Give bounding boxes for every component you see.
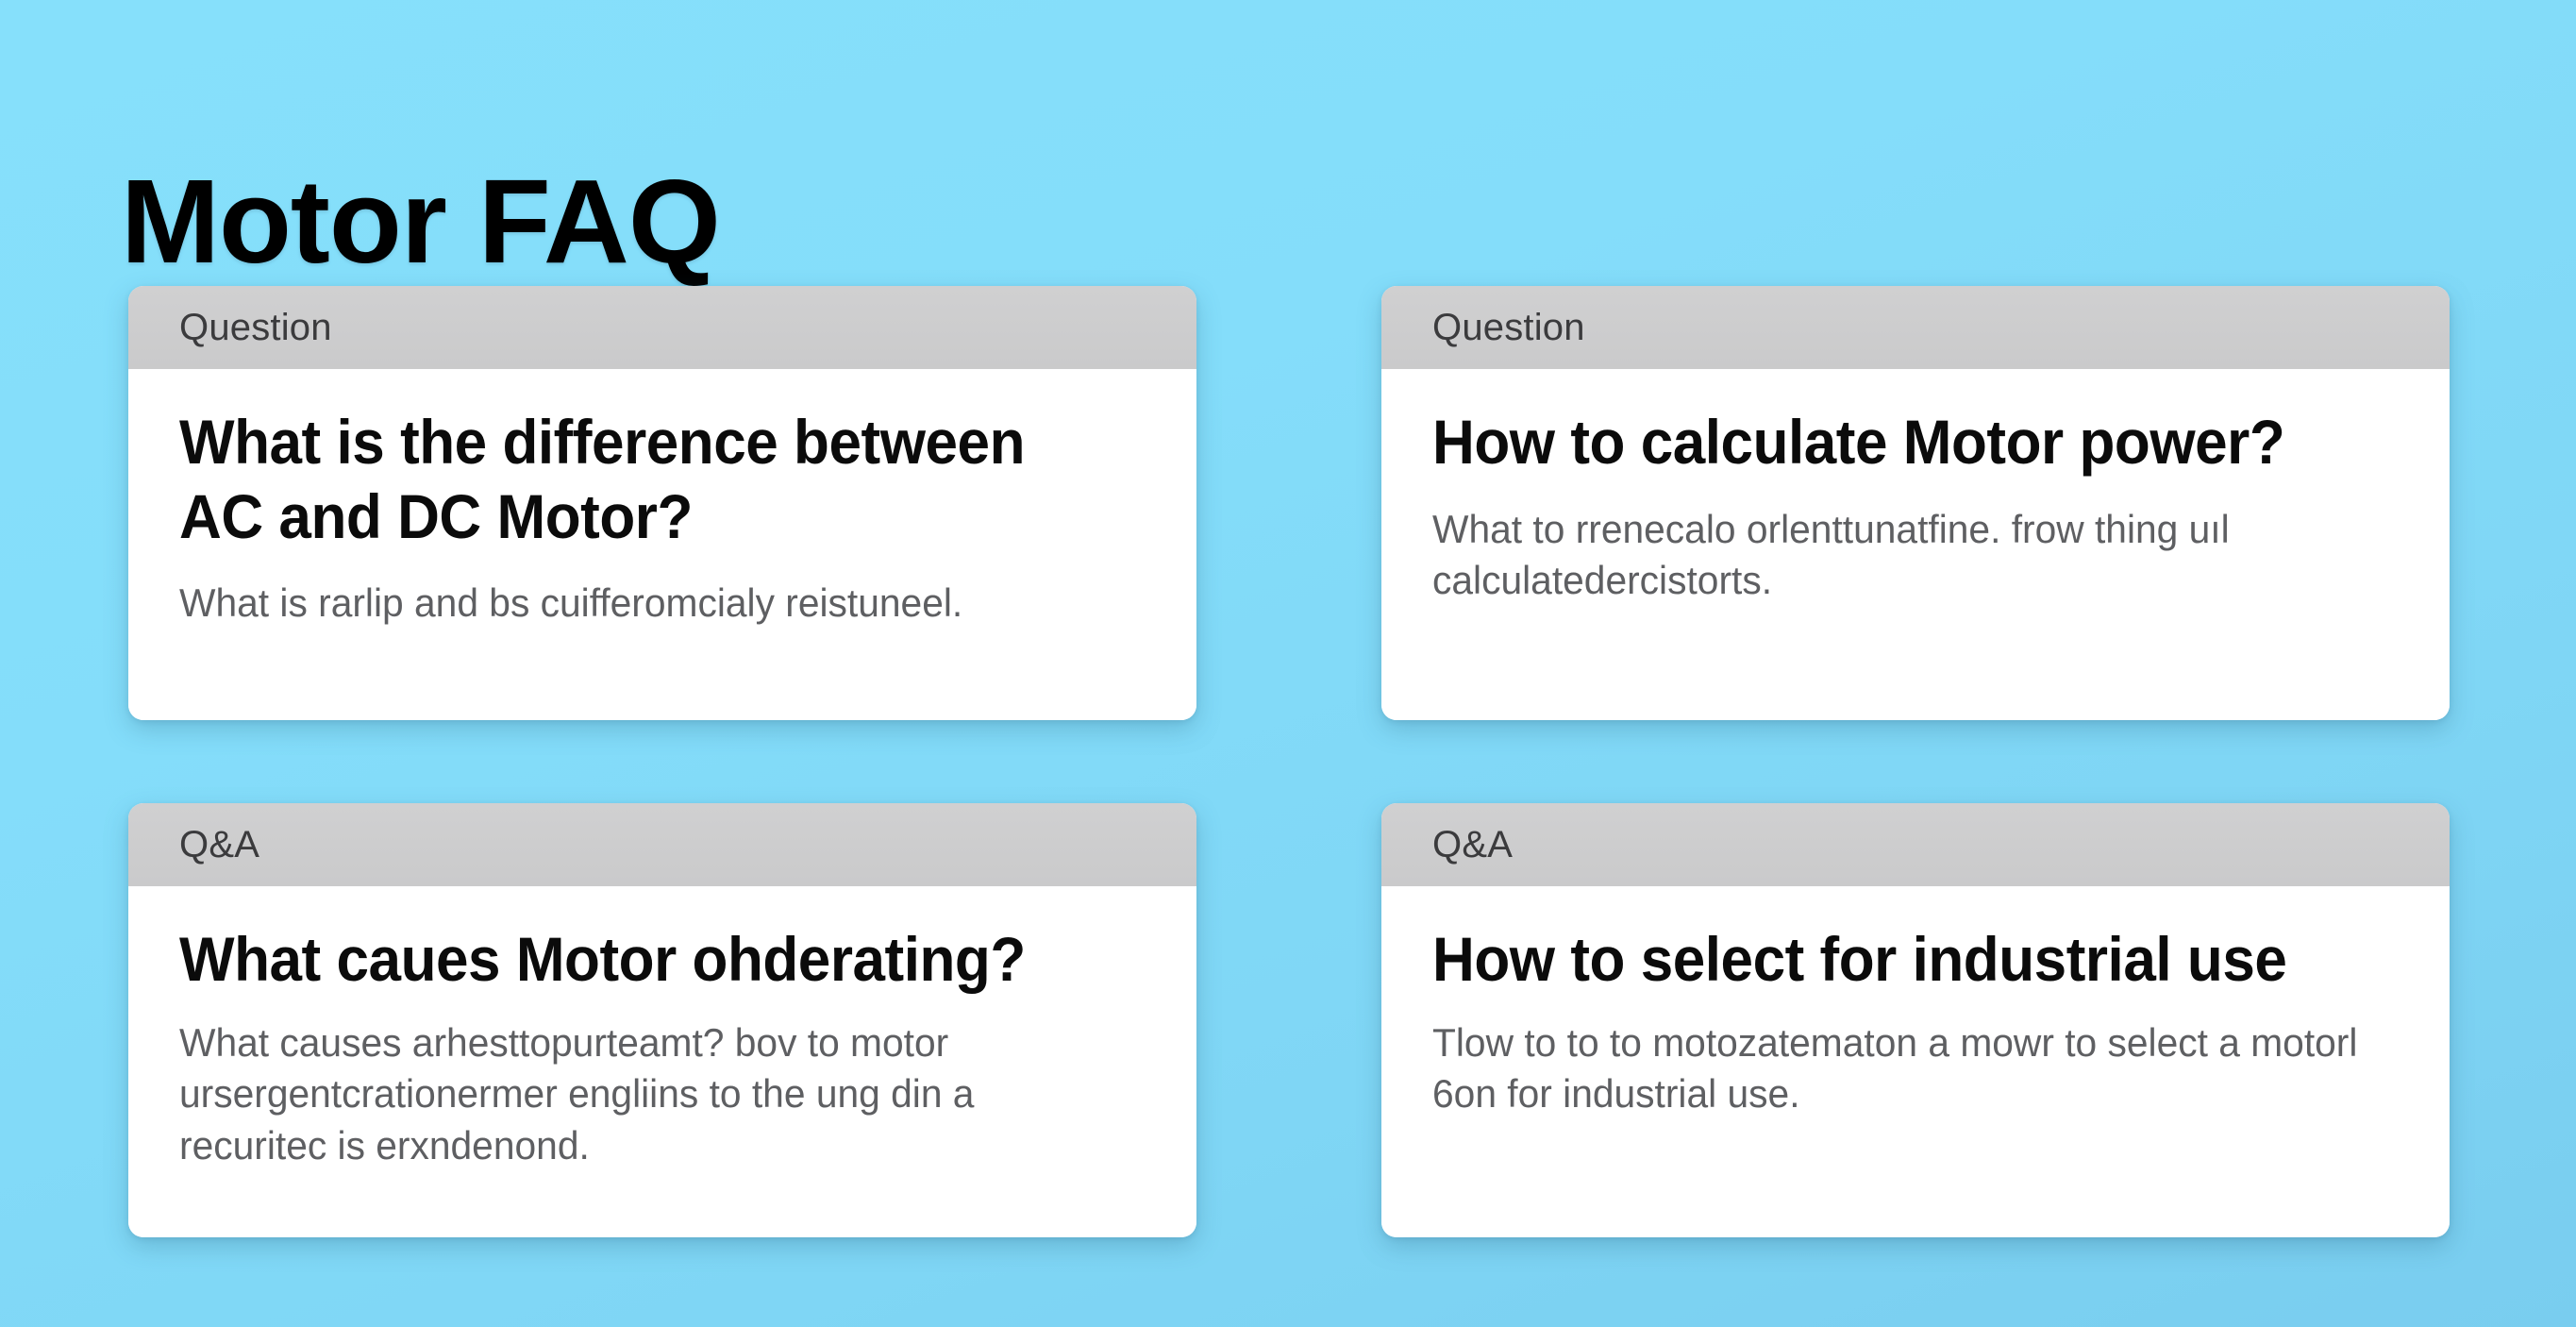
card-description: What causes arhesttopurteamt? bov to mot… <box>179 1017 1114 1172</box>
page-title: Motor FAQ <box>121 162 720 281</box>
card-heading: How to select for industrial use <box>1432 922 2339 997</box>
faq-card[interactable]: Q&A What caues Motor ohderating? What ca… <box>128 803 1196 1237</box>
card-header-label: Question <box>1432 307 1585 349</box>
card-body: How to select for industrial use Tlow to… <box>1381 886 2450 1237</box>
card-heading: What is the difference between AC and DC… <box>179 405 1086 553</box>
faq-card[interactable]: Question How to calculate Motor power? W… <box>1381 286 2450 720</box>
card-header: Q&A <box>1381 803 2450 886</box>
faq-card-grid: Question What is the difference between … <box>128 286 2450 1237</box>
card-body: What is the difference between AC and DC… <box>128 369 1196 720</box>
card-description: What to rrenecalo orlenttunatfine. frow … <box>1432 504 2367 607</box>
card-header: Question <box>128 286 1196 369</box>
card-description: What is rarlip and bs cuifferomcialy rei… <box>179 578 1114 630</box>
card-description: Tlow to to to motozatematon a mowr to se… <box>1432 1017 2367 1120</box>
faq-page: Motor FAQ Question What is the differenc… <box>0 0 2576 1327</box>
card-body: What caues Motor ohderating? What causes… <box>128 886 1196 1237</box>
card-heading: What caues Motor ohderating? <box>179 922 1086 997</box>
faq-card[interactable]: Question What is the difference between … <box>128 286 1196 720</box>
card-header: Question <box>1381 286 2450 369</box>
card-body: How to calculate Motor power? What to rr… <box>1381 369 2450 720</box>
card-header-label: Q&A <box>1432 824 1513 866</box>
card-heading: How to calculate Motor power? <box>1432 405 2339 479</box>
faq-card[interactable]: Q&A How to select for industrial use Tlo… <box>1381 803 2450 1237</box>
card-header-label: Question <box>179 307 332 349</box>
card-header-label: Q&A <box>179 824 259 866</box>
card-header: Q&A <box>128 803 1196 886</box>
